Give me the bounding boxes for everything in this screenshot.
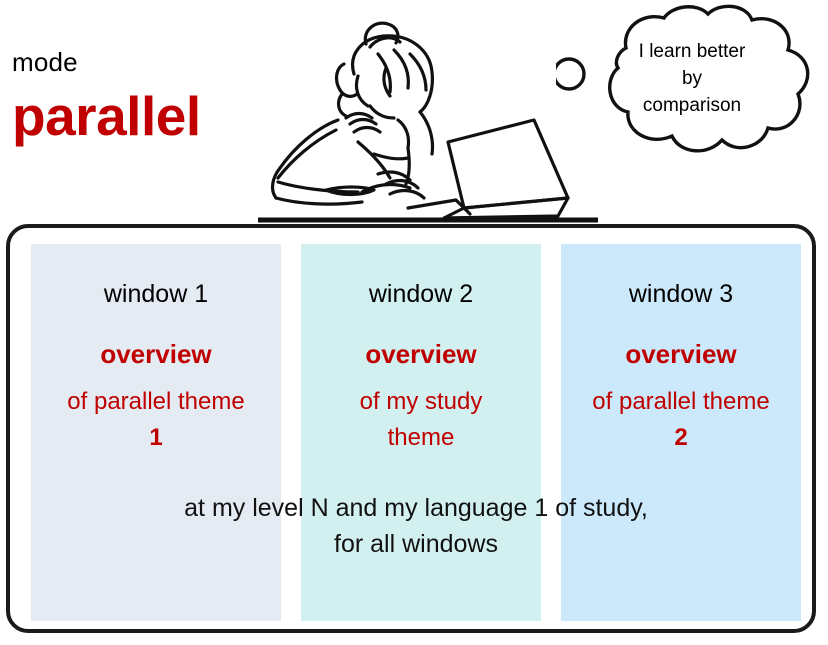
bubble-line-2: by — [588, 65, 796, 92]
window-3-theme-number: 2 — [674, 424, 687, 451]
windows-container: window 1 overview of parallel theme 1 wi… — [6, 224, 816, 633]
window-panel-3[interactable]: window 3 overview of parallel theme 2 — [561, 244, 801, 621]
window-2-sub-line-1: of my study — [360, 388, 483, 415]
window-1-theme-number: 1 — [149, 424, 162, 451]
thought-bubble-text: I learn better by comparison — [588, 38, 796, 119]
mode-value-parallel: parallel — [12, 84, 201, 148]
window-3-title: window 3 — [561, 280, 801, 309]
window-1-subtitle: of parallel theme 1 — [31, 384, 281, 456]
window-3-subtitle: of parallel theme 2 — [561, 384, 801, 456]
bubble-line-1: I learn better — [588, 38, 796, 65]
thought-dot-5 — [556, 59, 584, 89]
mode-label: mode — [12, 47, 78, 78]
window-3-sub-line-1: of parallel theme — [592, 388, 769, 415]
window-panel-2[interactable]: window 2 overview of my study theme — [301, 244, 541, 621]
window-2-overview-label: overview — [301, 339, 541, 370]
window-1-title: window 1 — [31, 280, 281, 309]
window-3-overview-label: overview — [561, 339, 801, 370]
window-2-title: window 2 — [301, 280, 541, 309]
window-2-subtitle: of my study theme — [301, 384, 541, 456]
window-1-sub-line-1: of parallel theme — [67, 388, 244, 415]
window-panel-1[interactable]: window 1 overview of parallel theme 1 — [31, 244, 281, 621]
bubble-line-3: comparison — [588, 92, 796, 119]
window-2-sub-line-2: theme — [388, 424, 455, 451]
window-1-overview-label: overview — [31, 339, 281, 370]
person-studying-at-laptop-illustration — [258, 2, 598, 224]
